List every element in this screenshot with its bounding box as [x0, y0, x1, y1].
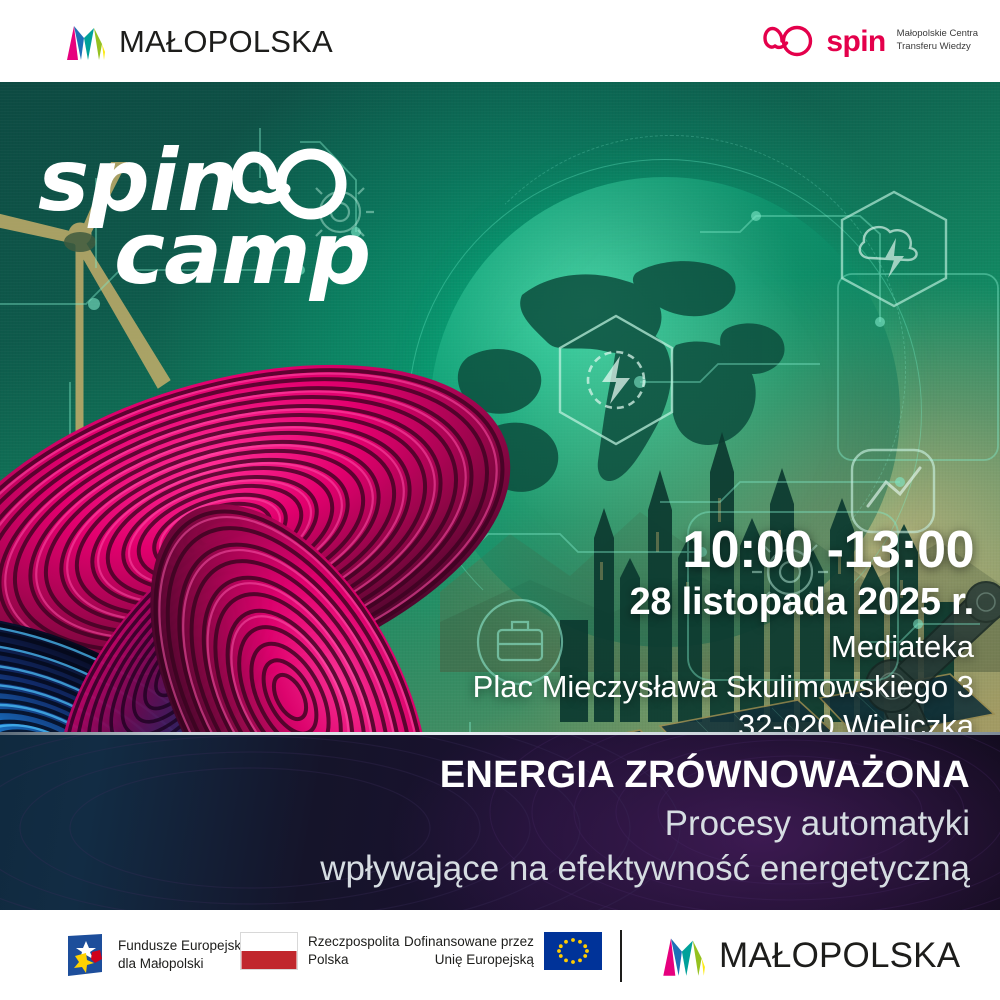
poland-flag-icon	[240, 932, 298, 970]
footer-malopolska-logo: MAŁOPOLSKA	[660, 934, 960, 978]
title-panel: ENERGIA ZRÓWNOWAŻONA Procesy automatyki …	[0, 732, 1000, 910]
top-logo-bar: MAŁOPOLSKA spin Małopolskie Centra Trans…	[0, 0, 1000, 82]
eu-funding-label: Dofinansowane przez Unię Europejską	[404, 933, 534, 969]
funds-line2: dla Małopolski	[118, 956, 204, 971]
malopolska-wordmark: MAŁOPOLSKA	[119, 24, 333, 60]
footer-logo-bar: Fundusze Europejskie dla Małopolski Rzec…	[0, 910, 1000, 1000]
spin-camp-logo: spin camp	[38, 140, 370, 297]
spin-camp-camp-text: camp	[114, 211, 370, 297]
spin-tagline: Małopolskie Centra Transferu Wiedzy	[895, 28, 978, 53]
malopolska-mark-icon	[64, 22, 106, 62]
malopolska-mark-icon-footer	[660, 934, 706, 978]
event-details: 10:00 -13:00 28 listopada 2025 r. Mediat…	[473, 522, 974, 746]
spin-tagline-line1: Małopolskie Centra	[897, 28, 978, 39]
spin-logo: spin Małopolskie Centra Transferu Wiedzy	[763, 24, 978, 58]
panel-text-block: ENERGIA ZRÓWNOWAŻONA Procesy automatyki …	[320, 754, 970, 892]
event-time: 10:00 -13:00	[473, 522, 974, 578]
footer-divider	[620, 930, 622, 982]
rzeczpospolita-logo: Rzeczpospolita Polska	[240, 932, 400, 970]
spin-infinity-icon	[763, 24, 817, 58]
eu-line1: Dofinansowane przez	[404, 934, 534, 949]
funduszeeuropejskie-logo: Fundusze Europejskie dla Małopolski	[62, 932, 252, 978]
rzeczpospolita-label: Rzeczpospolita Polska	[308, 933, 400, 969]
funds-line1: Fundusze Europejskie	[118, 938, 252, 953]
eu-flag-icon	[544, 932, 602, 970]
spin-wordmark: spin	[826, 27, 885, 57]
panel-subtitle-line1: Procesy automatyki	[320, 801, 970, 847]
event-street: Plac Mieczysława Skulimowskiego 3	[473, 667, 974, 707]
eu-line2: Unię Europejską	[435, 952, 534, 967]
footer-malopolska-wordmark: MAŁOPOLSKA	[719, 936, 960, 976]
funduszeeuropejskie-label: Fundusze Europejskie dla Małopolski	[118, 937, 252, 973]
event-venue: Mediateka	[473, 627, 974, 667]
panel-divider-line	[0, 732, 1000, 735]
panel-subtitle-line2: wpływające na efektywność energetyczną	[320, 846, 970, 892]
republic-line2: Polska	[308, 952, 349, 967]
event-date: 28 listopada 2025 r.	[473, 580, 974, 625]
panel-title: ENERGIA ZRÓWNOWAŻONA	[320, 754, 970, 797]
poster-root: MAŁOPOLSKA spin Małopolskie Centra Trans…	[0, 0, 1000, 1000]
spin-tagline-line2: Transferu Wiedzy	[897, 41, 971, 52]
malopolska-logo: MAŁOPOLSKA	[64, 22, 333, 62]
eu-funding-logo: Dofinansowane przez Unię Europejską	[404, 932, 602, 970]
republic-line1: Rzeczpospolita	[308, 934, 400, 949]
funduszeeuropejskie-flag-icon	[62, 932, 108, 978]
